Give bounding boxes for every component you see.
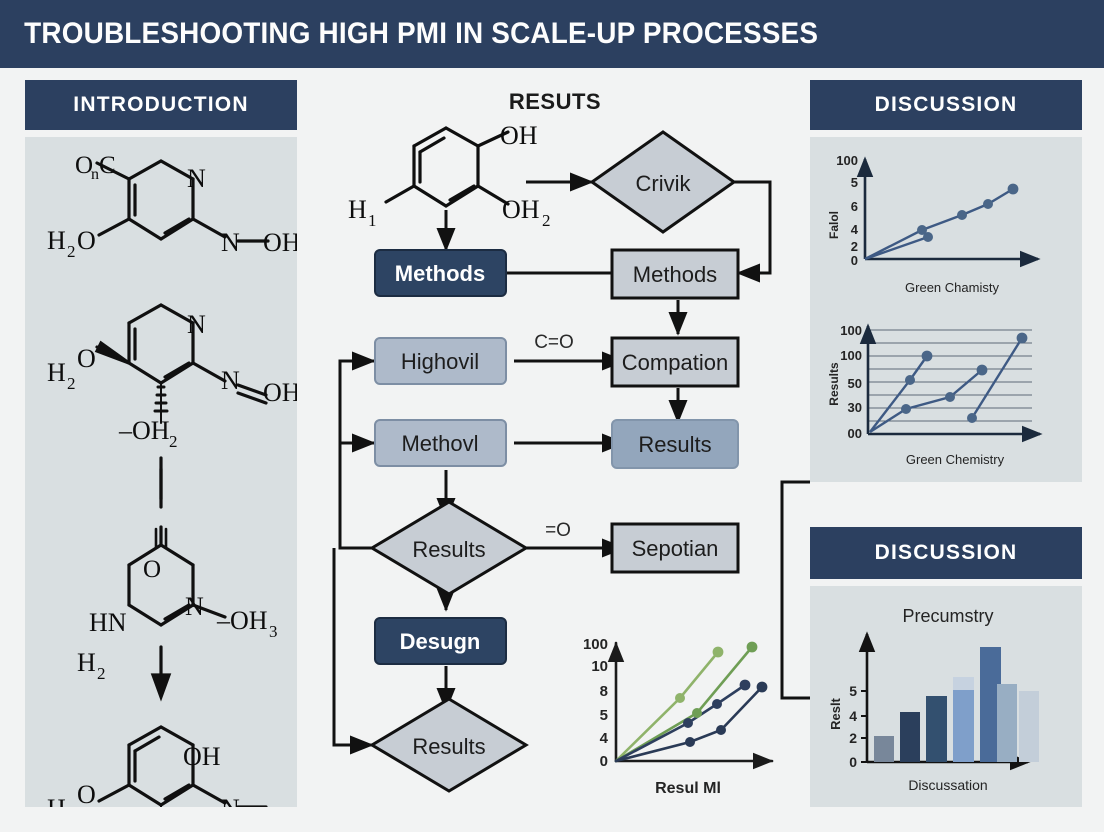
structure-2-label-H: H bbox=[47, 358, 66, 387]
discussion-bottom-label: DISCUSSION bbox=[875, 541, 1018, 565]
node-compation[interactable]: Compation bbox=[612, 338, 738, 386]
chart1-ytick-4: 4 bbox=[851, 222, 859, 237]
node-methods-left[interactable]: Methods bbox=[375, 250, 506, 296]
structure-2-label-bottom-sub: 2 bbox=[169, 432, 178, 451]
node-methods-right-label: Methods bbox=[633, 262, 717, 287]
chart2-series-right bbox=[972, 338, 1022, 418]
node-crivik[interactable]: Crivik bbox=[592, 132, 734, 232]
structure-3-label-H: H bbox=[77, 648, 96, 677]
structure-4-label-H: H bbox=[47, 794, 66, 807]
node-methods-left-label: Methods bbox=[395, 261, 485, 286]
chart3-ylabel: Reslt bbox=[828, 697, 843, 729]
chart1-xlabel: Green Chamisty bbox=[905, 280, 999, 295]
chart-green-chemistry: 100 100 50 30 00 Results Green Chemistry bbox=[810, 312, 1082, 482]
chart-resul-ml: 100 10 8 5 4 0 Resul Ml bbox=[570, 625, 800, 810]
structure-1-label-H-sub: 2 bbox=[67, 242, 76, 261]
chart3-bars-2 bbox=[997, 684, 1039, 762]
structure-3-label-OH: –OH bbox=[216, 606, 268, 635]
bar-4 bbox=[953, 690, 974, 762]
structure-3-label-O: O bbox=[143, 556, 161, 583]
structure-1-label-OH: OH bbox=[263, 228, 297, 257]
node-results-diamond-2[interactable]: Results bbox=[372, 699, 526, 791]
chart1-ylabel: Falol bbox=[827, 211, 841, 239]
structure-2-label-bottom: –OH bbox=[118, 416, 170, 445]
bar-1 bbox=[874, 736, 894, 762]
chart-resul-ml-ytick-0: 0 bbox=[600, 753, 608, 770]
bar-2 bbox=[900, 712, 920, 762]
structure-2-label-H-sub: 2 bbox=[67, 374, 76, 393]
chart1-ytick-2: 2 bbox=[851, 239, 858, 254]
structure-2-label-N2: N bbox=[221, 366, 240, 395]
chart3-xlabel: Discussation bbox=[908, 777, 987, 793]
node-desugn[interactable]: Desugn bbox=[375, 618, 506, 664]
chart-green-chamisty: 100 5 6 4 2 0 Falol Green Chamisty bbox=[810, 137, 1082, 312]
chart2-ytick-30: 30 bbox=[848, 400, 862, 415]
structure-3-label-N: N bbox=[185, 592, 204, 621]
structure-1 bbox=[97, 161, 268, 241]
chart-resul-ml-ytick-4: 4 bbox=[600, 730, 609, 747]
introduction-label: INTRODUCTION bbox=[73, 93, 248, 117]
structure-1-label-H: H bbox=[47, 226, 66, 255]
structure-1-label-O2: O bbox=[77, 226, 96, 255]
node-sepotian-label: Sepotian bbox=[632, 536, 719, 561]
node-methods-right[interactable]: Methods bbox=[612, 250, 738, 298]
chart-resul-ml-ytick-100: 100 bbox=[583, 636, 608, 653]
chart-precumstry-title: Precumstry bbox=[902, 606, 993, 626]
chart2-ytick-50: 50 bbox=[848, 376, 862, 391]
edge-loop-diamond2 bbox=[334, 548, 372, 745]
chart1-ytick-5: 5 bbox=[851, 175, 858, 190]
chart2-markers bbox=[901, 333, 1027, 423]
bar-6 bbox=[997, 684, 1017, 762]
structure-1-label-C: C bbox=[99, 152, 116, 179]
bar-3 bbox=[926, 696, 947, 762]
node-sepotian[interactable]: Sepotian bbox=[612, 524, 738, 572]
chart1-ytick-6: 6 bbox=[851, 199, 858, 214]
node-methovl[interactable]: Methovl bbox=[375, 420, 506, 466]
structure-4-label-N: N bbox=[221, 794, 240, 807]
flowchart-molecule-label-OH2-sub: 2 bbox=[542, 211, 551, 230]
chart2-ytick-100: 100 bbox=[840, 348, 862, 363]
poster-canvas: TROUBLESHOOTING HIGH PMI IN SCALE-UP PRO… bbox=[0, 0, 1104, 832]
chart-resul-ml-xlabel: Resul Ml bbox=[655, 780, 721, 797]
structure-3-label-OH-sub: 3 bbox=[269, 622, 278, 641]
chart-precumstry: Precumstry 5 4 2 0 bbox=[810, 586, 1082, 807]
structure-3-label-H-sub: 2 bbox=[97, 664, 106, 683]
page-title: TROUBLESHOOTING HIGH PMI IN SCALE-UP PRO… bbox=[0, 17, 818, 51]
chart3-bars bbox=[874, 647, 1001, 762]
node-results-diamond-2-label: Results bbox=[412, 734, 485, 759]
node-highovil-label: Highovil bbox=[401, 349, 479, 374]
introduction-panel-header: INTRODUCTION bbox=[25, 80, 297, 130]
structure-2-label-OH: OH bbox=[263, 378, 297, 407]
node-desugn-label: Desugn bbox=[400, 629, 481, 654]
discussion-top-label: DISCUSSION bbox=[875, 93, 1018, 117]
chart2-xlabel: Green Chemistry bbox=[906, 452, 1005, 467]
discussion-top-panel-body: 100 5 6 4 2 0 Falol Green Chamisty bbox=[810, 137, 1082, 482]
chart3-ytick-5: 5 bbox=[849, 683, 857, 699]
node-highovil[interactable]: Highovil bbox=[375, 338, 506, 384]
structure-3-label-HN: HN bbox=[89, 608, 127, 637]
bar-7 bbox=[1019, 691, 1039, 762]
discussion-top-panel-header: DISCUSSION bbox=[810, 80, 1082, 130]
structure-4-label-NOH: –OH bbox=[260, 802, 297, 807]
structure-1-label-n: n bbox=[91, 166, 99, 183]
chart2-ytick-100b: 100 bbox=[840, 323, 862, 338]
chart2-series-mid bbox=[870, 370, 982, 432]
node-results-diamond-1-label: Results bbox=[412, 537, 485, 562]
chart3-ytick-0: 0 bbox=[849, 754, 857, 770]
node-results-right-label: Results bbox=[638, 432, 711, 457]
chemical-structures-svg: O n C N H 2 O N OH 3 bbox=[25, 137, 297, 807]
edge-loop-diamond1-to-highovil bbox=[340, 361, 374, 548]
structure-1-label-N: N bbox=[187, 164, 206, 193]
structure-2-label-N: N bbox=[187, 310, 206, 339]
chart3-ytick-4: 4 bbox=[849, 708, 857, 724]
structure-1-label-N2: N bbox=[221, 228, 240, 257]
poster-title-bar: TROUBLESHOOTING HIGH PMI IN SCALE-UP PRO… bbox=[0, 0, 1104, 68]
chart-resul-ml-ytick-8: 8 bbox=[600, 683, 608, 700]
structure-4-label-O: O bbox=[77, 780, 96, 807]
structure-2-label-O: O bbox=[77, 344, 96, 373]
node-compation-label: Compation bbox=[622, 350, 728, 375]
chart3-ytick-2: 2 bbox=[849, 730, 857, 746]
flowchart-molecule-label-OH2: OH bbox=[502, 195, 540, 224]
node-results-diamond-1[interactable]: Results bbox=[372, 502, 526, 594]
chart2-ytick-00: 00 bbox=[848, 426, 862, 441]
edge-label-co: C=O bbox=[534, 332, 574, 353]
edge-label-o: =O bbox=[545, 520, 571, 541]
chart-resul-ml-ytick-5: 5 bbox=[600, 707, 608, 724]
node-crivik-label: Crivik bbox=[636, 171, 692, 196]
chart1-ytick-100: 100 bbox=[836, 153, 858, 168]
discussion-bottom-panel-header: DISCUSSION bbox=[810, 527, 1082, 579]
chart1-series-upper bbox=[865, 189, 1013, 259]
discussion-bottom-panel-body: Precumstry 5 4 2 0 bbox=[810, 586, 1082, 807]
chart-resul-ml-ytick-10: 10 bbox=[591, 658, 608, 675]
flowchart-molecule-label-OH: OH bbox=[500, 121, 538, 150]
chart1-ytick-0: 0 bbox=[851, 253, 858, 268]
node-methovl-label: Methovl bbox=[401, 431, 478, 456]
chart1-series-lower bbox=[865, 237, 928, 259]
introduction-panel-body: O n C N H 2 O N OH 3 bbox=[25, 137, 297, 807]
flowchart-molecule-label-H-sub: 1 bbox=[368, 211, 377, 230]
chart2-gridlines bbox=[868, 330, 1032, 421]
flowchart-molecule-label-H: H bbox=[348, 195, 367, 224]
flowchart-molecule bbox=[386, 128, 508, 206]
structure-4-label-OH: OH bbox=[183, 742, 221, 771]
node-results-right[interactable]: Results bbox=[612, 420, 738, 468]
chart2-ylabel: Results bbox=[827, 362, 841, 406]
